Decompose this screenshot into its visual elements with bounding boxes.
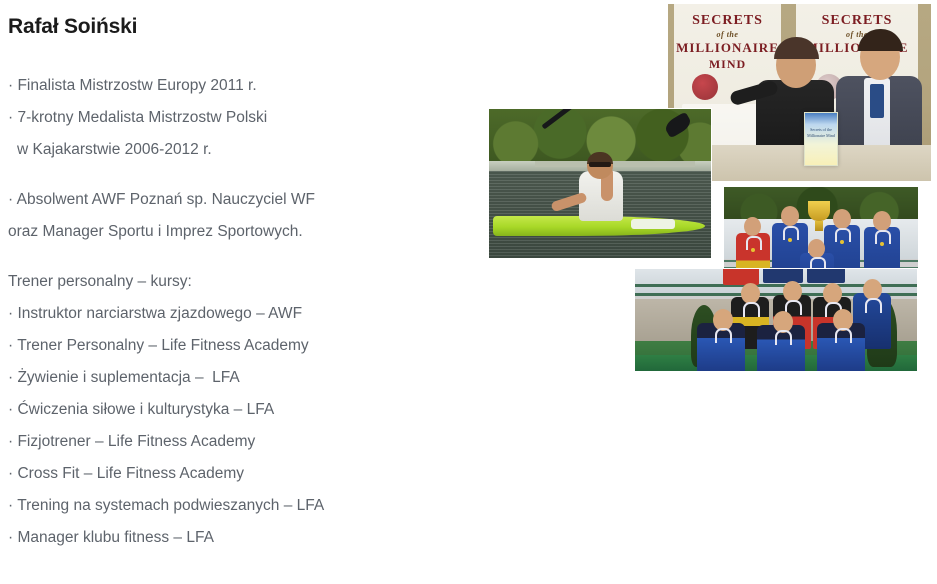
course-item: · Cross Fit – Life Fitness Academy (8, 458, 468, 490)
bio-column: Rafał Soiński · Finalista Mistrzostw Eur… (0, 0, 470, 584)
photo-collage: SECRETS of the MILLIONAIRE MIND SECRETS … (470, 0, 937, 584)
achievement-item: · 7-krotny Medalista Mistrzostw Polski (8, 102, 468, 134)
course-item: · Żywienie i suplementacja – LFA (8, 362, 468, 394)
page-title: Rafał Soiński (8, 15, 137, 39)
banner-text-ofthe-2: of the (796, 30, 918, 39)
banner-text-ofthe: of the (674, 30, 781, 39)
course-item: · Manager klubu fitness – LFA (8, 522, 468, 554)
courses-heading: Trener personalny – kursy: (8, 266, 468, 298)
book-title-text: Secrets of the Millionaire Mind (807, 127, 835, 139)
photo-kayaking (488, 108, 712, 259)
course-item: · Instruktor narciarstwa zjazdowego – AW… (8, 298, 468, 330)
course-item: · Ćwiczenia siłowe i kulturystyka – LFA (8, 394, 468, 426)
banner-text-millionaire: MILLIONAIRE (674, 40, 781, 56)
course-item: · Trening na systemach podwieszanych – L… (8, 490, 468, 522)
achievement-item-continuation: w Kajakarstwie 2006-2012 r. (8, 134, 468, 166)
photo-team-group (634, 268, 918, 372)
course-item: · Trener Personalny – Life Fitness Acade… (8, 330, 468, 362)
banner-text-mind: MIND (674, 57, 781, 72)
paragraph-spacer (8, 166, 468, 184)
achievement-item: · Finalista Mistrzostw Europy 2011 r. (8, 70, 468, 102)
book-cover: Secrets of the Millionaire Mind (804, 112, 838, 166)
course-item: · Fizjotrener – Life Fitness Academy (8, 426, 468, 458)
paragraph-spacer (8, 248, 468, 266)
banner-text-secrets-2: SECRETS (796, 13, 918, 29)
education-item: · Absolwent AWF Poznań sp. Nauczyciel WF (8, 184, 468, 216)
banner-text-secrets: SECRETS (674, 13, 781, 29)
profile-page: Rafał Soiński · Finalista Mistrzostw Eur… (0, 0, 937, 584)
bio-text-block: · Finalista Mistrzostw Europy 2011 r. · … (8, 70, 468, 554)
education-item: oraz Manager Sportu i Imprez Sportowych. (8, 216, 468, 248)
